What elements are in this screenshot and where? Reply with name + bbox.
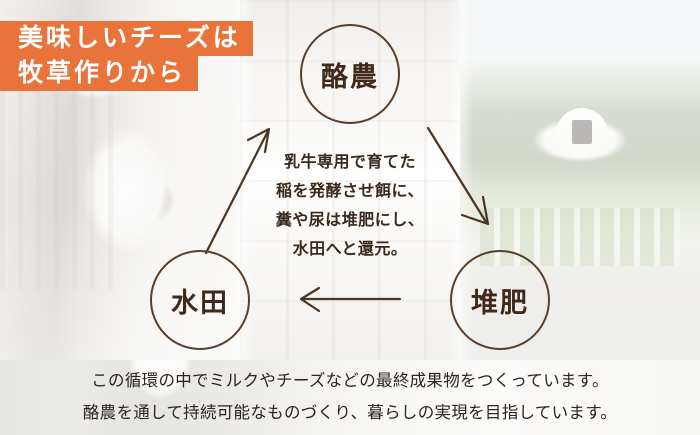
node-dairy-label: 酪農 bbox=[321, 55, 379, 94]
node-compost-label: 堆肥 bbox=[471, 281, 529, 320]
node-compost: 堆肥 bbox=[450, 250, 550, 350]
cycle-description-line-1: 乳牛専用で育てた bbox=[255, 148, 445, 177]
cycle-description-line-4: 水田へと還元。 bbox=[255, 235, 445, 264]
cycle-description: 乳牛専用で育てた 稲を発酵させ餌に、 糞や尿は堆肥にし、 水田へと還元。 bbox=[255, 148, 445, 264]
node-paddy: 水田 bbox=[150, 250, 250, 350]
footer-caption-line-2: 酪農を通して持続可能なものづくり、暮らしの実現を目指しています。 bbox=[0, 397, 700, 429]
cycle-description-line-2: 稲を発酵させ餌に、 bbox=[255, 177, 445, 206]
arrow-compost-to-paddy bbox=[301, 288, 400, 311]
footer-caption-line-1: この循環の中でミルクやチーズなどの最終成果物をつくっています。 bbox=[0, 365, 700, 397]
footer-caption: この循環の中でミルクやチーズなどの最終成果物をつくっています。 酪農を通して持続… bbox=[0, 365, 700, 429]
node-paddy-label: 水田 bbox=[171, 281, 229, 320]
cycle-description-line-3: 糞や尿は堆肥にし、 bbox=[255, 206, 445, 235]
node-dairy: 酪農 bbox=[300, 24, 400, 124]
infographic-canvas: 美味しいチーズは 牧草作りから 酪農 水田 堆肥 乳牛専用で育てた 稲を発酵させ… bbox=[0, 0, 700, 435]
